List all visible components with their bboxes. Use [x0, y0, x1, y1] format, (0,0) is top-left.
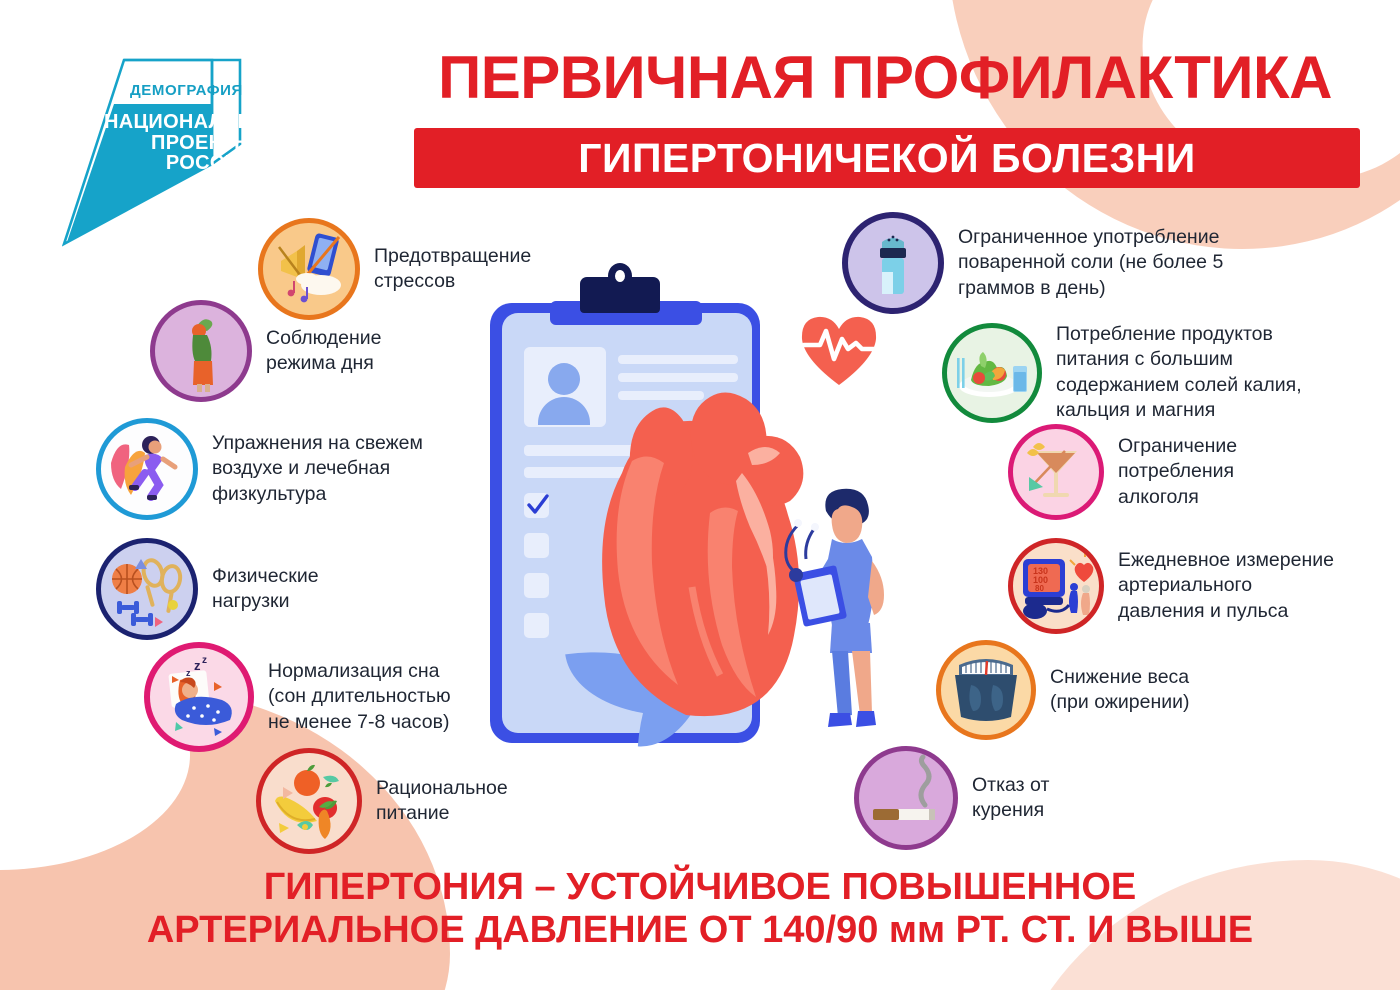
- item-label: Отказ от курения: [972, 773, 1049, 824]
- salt-shaker-icon: [842, 212, 944, 314]
- form-checkbox: [524, 533, 549, 558]
- item-label: Упражнения на свежем воздухе и лечебная …: [212, 431, 423, 507]
- item-label: Нормализация сна (сон длительностью не м…: [268, 659, 451, 735]
- background-blob-top-right-white: [1108, 0, 1400, 224]
- logo-line-1: НАЦИОНАЛЬНЫЕ: [104, 112, 254, 133]
- salt-shaker-art: [848, 218, 938, 308]
- salad-plate-icon: [942, 323, 1042, 423]
- item-sleep-normalization: z z z Нормализация сна (сон длительность…: [144, 642, 451, 752]
- item-daily-bp-measurement: 130 100 80 Ежедневное измерение артериал…: [1008, 538, 1334, 634]
- svg-text:z: z: [186, 668, 191, 678]
- svg-text:z: z: [194, 658, 201, 673]
- sleeping-person-art: z z z: [150, 648, 248, 746]
- form-checkbox: [524, 613, 549, 638]
- logo-title: НАЦИОНАЛЬНЫЕ ПРОЕКТЫ РОССИИ: [104, 112, 254, 174]
- checkmark-icon: [526, 493, 550, 517]
- physical-activity-icon: [96, 538, 198, 640]
- svg-text:z: z: [202, 655, 207, 666]
- footer-statement: ГИПЕРТОНИЯ – УСТОЙЧИВОЕ ПОВЫШЕННОЕ АРТЕР…: [0, 866, 1400, 951]
- alcohol-limit-icon: [1008, 424, 1104, 520]
- doctor-with-stethoscope-icon: [780, 485, 900, 765]
- sleep-icon: z z z: [144, 642, 254, 752]
- infographic-poster: ДЕМОГРАФИЯ НАЦИОНАЛЬНЫЕ ПРОЕКТЫ РОССИИ П…: [0, 0, 1400, 990]
- outdoor-exercise-icon: [96, 418, 198, 520]
- page-subtitle: ГИПЕРТОНИЧЕКОЙ БОЛЕЗНИ: [578, 135, 1195, 182]
- item-label: Физические нагрузки: [212, 564, 319, 615]
- weight-scale-icon: [936, 640, 1036, 740]
- item-outdoor-exercise: Упражнения на свежем воздухе и лечебная …: [96, 418, 423, 520]
- cigarette-art: [859, 751, 953, 845]
- central-illustration: [460, 255, 900, 775]
- item-label: Потребление продуктов питания с большим …: [1056, 322, 1302, 423]
- item-physical-activity: Физические нагрузки: [96, 538, 319, 640]
- heartbeat-pulse-icon: [798, 313, 880, 389]
- item-label: Рациональное питание: [376, 776, 508, 827]
- healthy-food-icon: [256, 748, 362, 854]
- no-smoking-icon: [854, 746, 958, 850]
- footer-line-1: ГИПЕРТОНИЯ – УСТОЙЧИВОЕ ПОВЫШЕННОЕ: [0, 866, 1400, 909]
- item-weight-reduction: Снижение веса (при ожирении): [936, 640, 1190, 740]
- sports-equipment-art: [101, 543, 193, 635]
- svg-text:80: 80: [1035, 584, 1044, 593]
- item-label: Ограничение потребления алкоголя: [1118, 434, 1237, 510]
- item-alcohol-limit: Ограничение потребления алкоголя: [1008, 424, 1237, 520]
- fruits-vegetables-art: [261, 753, 357, 849]
- item-label: Ежедневное измерение артериального давле…: [1118, 548, 1334, 624]
- blood-pressure-monitor-icon: 130 100 80: [1008, 538, 1104, 634]
- clipboard-ring-icon: [608, 263, 632, 289]
- item-daily-routine: Соблюдение режима дня: [150, 300, 382, 402]
- subtitle-band: ГИПЕРТОНИЧЕКОЙ БОЛЕЗНИ: [414, 128, 1360, 188]
- tonometer-art: 130 100 80: [1013, 543, 1099, 629]
- item-label: Ограниченное употребление поваренной сол…: [958, 225, 1223, 301]
- running-person-art: [101, 423, 193, 515]
- bathroom-scale-art: [941, 645, 1031, 735]
- footer-line-2: АРТЕРИАЛЬНОЕ ДАВЛЕНИЕ ОТ 140/90 мм РТ. С…: [0, 909, 1400, 952]
- page-title: ПЕРВИЧНАЯ ПРОФИЛАКТИКА: [400, 48, 1370, 108]
- item-salt-limit: Ограниченное употребление поваренной сол…: [842, 212, 1223, 314]
- cocktail-glass-art: [1013, 429, 1099, 515]
- item-label: Соблюдение режима дня: [266, 326, 382, 377]
- item-potassium-foods: Потребление продуктов питания с большим …: [942, 322, 1302, 423]
- logo-line-2: ПРОЕКТЫ: [104, 133, 254, 154]
- logo-program-name: ДЕМОГРАФИЯ: [130, 82, 243, 99]
- logo-line-3: РОССИИ: [104, 153, 254, 174]
- stretching-person-art: [155, 305, 247, 397]
- form-checkbox: [524, 573, 549, 598]
- daily-routine-icon: [150, 300, 252, 402]
- item-smoking-cessation: Отказ от курения: [854, 746, 1049, 850]
- item-label: Снижение веса (при ожирении): [1050, 665, 1190, 716]
- salad-plate-art: [947, 328, 1037, 418]
